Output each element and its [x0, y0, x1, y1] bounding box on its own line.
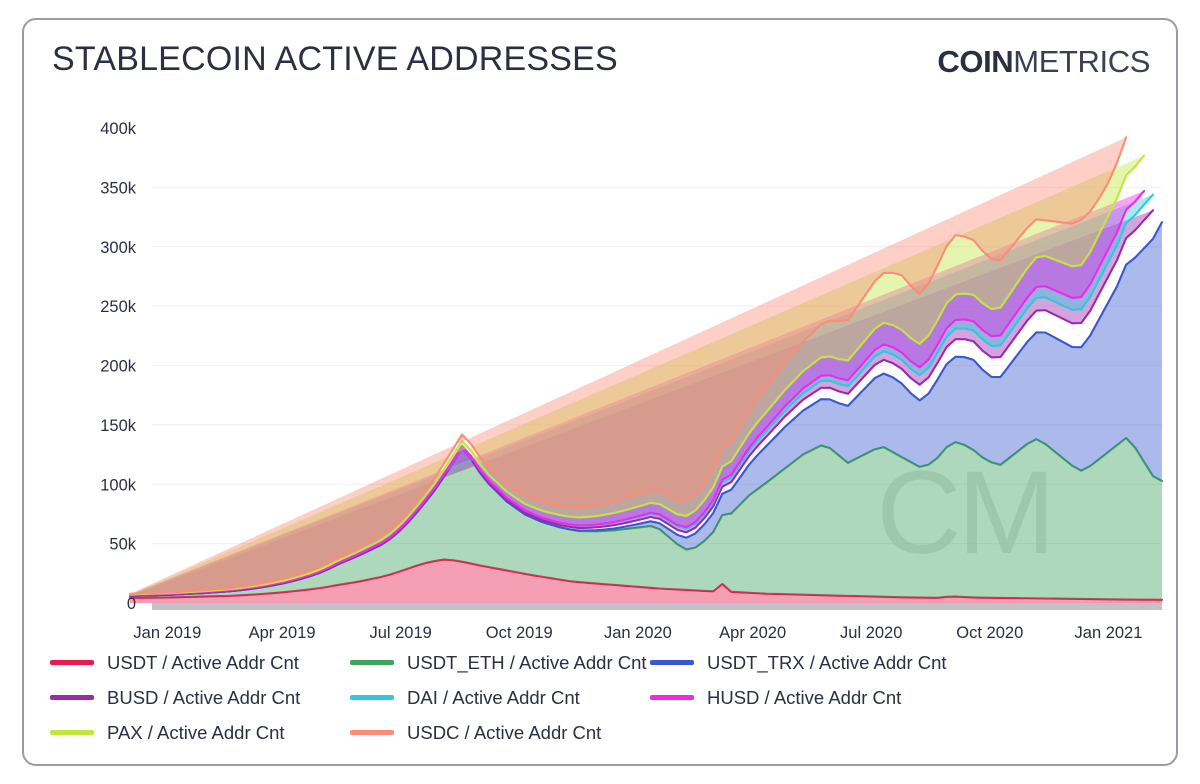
legend-row: USDT / Active Addr Cnt USDT_ETH / Active… [50, 645, 1150, 680]
legend-label-busd: BUSD / Active Addr Cnt [107, 687, 300, 709]
chart-legend: USDT / Active Addr Cnt USDT_ETH / Active… [50, 645, 1150, 750]
legend-row: BUSD / Active Addr Cnt DAI / Active Addr… [50, 680, 1150, 715]
x-axis-tick-label: Jan 2019 [133, 624, 201, 642]
legend-label-usdc: USDC / Active Addr Cnt [407, 722, 601, 744]
y-axis-tick-label: 150k [100, 417, 137, 435]
x-axis-tick-label: Jan 2021 [1075, 624, 1143, 642]
x-axis-tick-label: Oct 2019 [486, 624, 553, 642]
y-axis-tick-label: 250k [100, 298, 137, 316]
stacked-area-chart: CM050k100k150k200k250k300k350k400kJan 20… [24, 98, 1180, 643]
x-axis-tick-label: Apr 2020 [719, 624, 786, 642]
x-axis-tick-label: Apr 2019 [249, 624, 316, 642]
y-axis-tick-label: 0 [127, 595, 136, 613]
legend-item-pax[interactable]: PAX / Active Addr Cnt [50, 722, 350, 744]
legend-row: PAX / Active Addr Cnt USDC / Active Addr… [50, 715, 1150, 750]
y-axis-tick-label: 200k [100, 358, 137, 376]
logo-coin-text: COIN [937, 44, 1013, 79]
legend-label-usdt-trx: USDT_TRX / Active Addr Cnt [707, 652, 947, 674]
y-axis-tick-label: 350k [100, 179, 137, 197]
legend-swatch-dai [350, 695, 394, 700]
legend-item-usdt-eth[interactable]: USDT_ETH / Active Addr Cnt [350, 652, 650, 674]
y-axis-tick-label: 100k [100, 476, 137, 494]
logo-metrics-text: METRICS [1013, 44, 1150, 79]
legend-item-usdt[interactable]: USDT / Active Addr Cnt [50, 652, 350, 674]
legend-swatch-husd [650, 695, 694, 700]
legend-label-pax: PAX / Active Addr Cnt [107, 722, 285, 744]
page-title: STABLECOIN ACTIVE ADDRESSES [52, 40, 618, 79]
legend-label-usdt: USDT / Active Addr Cnt [107, 652, 299, 674]
legend-label-husd: HUSD / Active Addr Cnt [707, 687, 901, 709]
legend-label-dai: DAI / Active Addr Cnt [407, 687, 580, 709]
legend-item-usdt-trx[interactable]: USDT_TRX / Active Addr Cnt [650, 652, 950, 674]
legend-item-dai[interactable]: DAI / Active Addr Cnt [350, 687, 650, 709]
legend-label-usdt-eth: USDT_ETH / Active Addr Cnt [407, 652, 647, 674]
legend-swatch-usdc [350, 730, 394, 735]
baseline-strip [152, 603, 1162, 610]
chart-header: STABLECOIN ACTIVE ADDRESSES COINMETRICS [24, 20, 1176, 98]
plot-area: CM050k100k150k200k250k300k350k400kJan 20… [24, 98, 1180, 643]
chart-card: STABLECOIN ACTIVE ADDRESSES COINMETRICS … [22, 18, 1178, 766]
legend-swatch-usdt-trx [650, 660, 694, 665]
x-axis-tick-label: Jul 2019 [369, 624, 431, 642]
x-axis-tick-label: Oct 2020 [956, 624, 1023, 642]
x-axis-tick-label: Jul 2020 [840, 624, 902, 642]
legend-item-husd[interactable]: HUSD / Active Addr Cnt [650, 687, 950, 709]
legend-swatch-usdt-eth [350, 660, 394, 665]
legend-swatch-pax [50, 730, 94, 735]
legend-swatch-usdt [50, 660, 94, 665]
legend-item-busd[interactable]: BUSD / Active Addr Cnt [50, 687, 350, 709]
legend-item-usdc[interactable]: USDC / Active Addr Cnt [350, 722, 650, 744]
y-axis-tick-label: 400k [100, 120, 137, 138]
y-axis-tick-label: 50k [109, 536, 136, 554]
x-axis-tick-label: Jan 2020 [604, 624, 672, 642]
legend-swatch-busd [50, 695, 94, 700]
y-axis-tick-label: 300k [100, 239, 137, 257]
coinmetrics-logo: COINMETRICS [937, 44, 1150, 80]
